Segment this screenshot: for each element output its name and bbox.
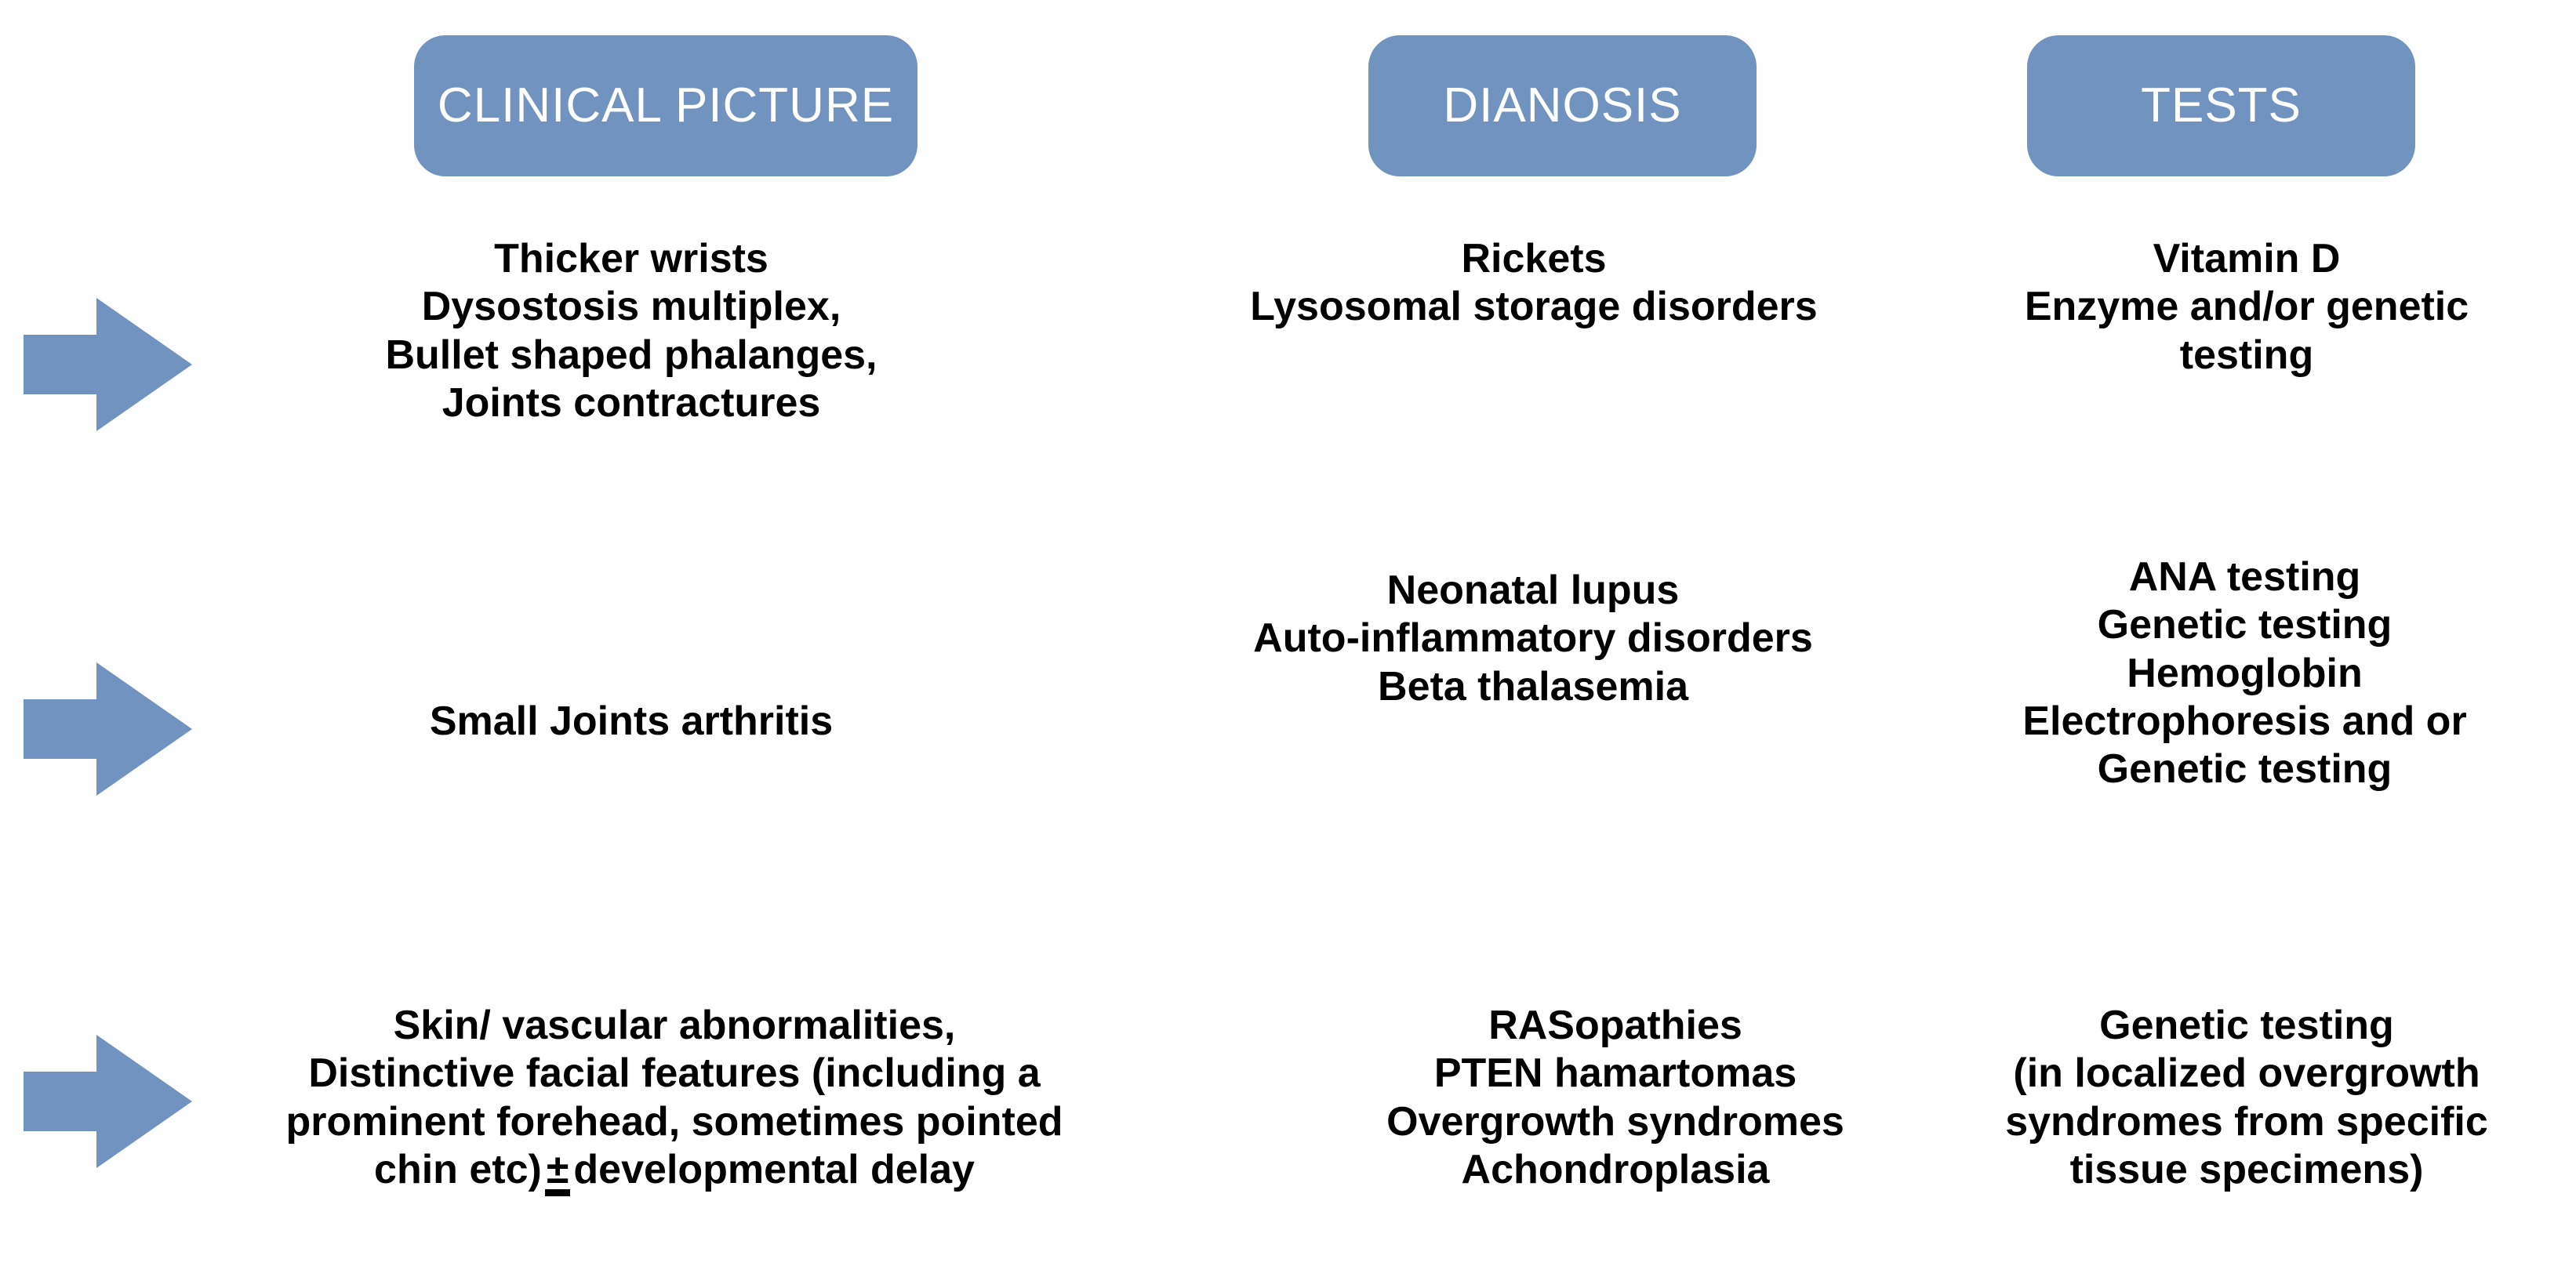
- cell-line: Skin/ vascular abnormalities,: [141, 1002, 1208, 1050]
- header-pill-clinical-picture[interactable]: CLINICAL PICTURE: [414, 35, 917, 176]
- cell-line-prefix: chin etc): [374, 1147, 542, 1192]
- cell-row1-dianosis: Rickets Lysosomal storage disorders: [1176, 235, 1891, 332]
- cell-line: Bullet shaped phalanges,: [149, 332, 1114, 379]
- header-pill-tests[interactable]: TESTS: [2027, 35, 2415, 176]
- cell-row2-clinical-picture: Small Joints arthritis: [149, 698, 1114, 746]
- cell-line: Hemoglobin: [1925, 650, 2564, 698]
- header-pill-dianosis[interactable]: DIANOSIS: [1368, 35, 1757, 176]
- header-label-tests: TESTS: [2141, 82, 2302, 130]
- cell-line: Enzyme and/or genetic: [1937, 283, 2556, 331]
- cell-line: Distinctive facial features (including a: [141, 1050, 1208, 1098]
- diagram-canvas: CLINICAL PICTURE DIANOSIS TESTS Thicker …: [0, 0, 2576, 1288]
- cell-line: Neonatal lupus: [1161, 567, 1906, 615]
- cell-row1-clinical-picture: Thicker wrists Dysostosis multiplex, Bul…: [149, 235, 1114, 427]
- header-label-dianosis: DIANOSIS: [1443, 82, 1681, 130]
- cell-line: Joints contractures: [149, 379, 1114, 427]
- cell-line: PTEN hamartomas: [1223, 1050, 2007, 1098]
- plus-minus-symbol: ±: [545, 1152, 571, 1196]
- cell-line: Auto-inflammatory disorders: [1161, 615, 1906, 662]
- cell-row3-dianosis: RASopathies PTEN hamartomas Overgrowth s…: [1223, 1002, 2007, 1194]
- cell-line: prominent forehead, sometimes pointed: [141, 1098, 1208, 1146]
- cell-row3-clinical-picture: Skin/ vascular abnormalities, Distinctiv…: [141, 1002, 1208, 1196]
- cell-line: Dysostosis multiplex,: [149, 283, 1114, 331]
- cell-line: Lysosomal storage disorders: [1176, 283, 1891, 331]
- cell-row2-tests: ANA testing Genetic testing Hemoglobin E…: [1925, 553, 2564, 794]
- cell-line: Genetic testing: [1925, 746, 2564, 793]
- cell-line: Vitamin D: [1937, 235, 2556, 283]
- cell-line: Beta thalasemia: [1161, 663, 1906, 711]
- cell-line: Genetic testing: [1925, 601, 2564, 649]
- cell-row1-tests: Vitamin D Enzyme and/or genetic testing: [1937, 235, 2556, 379]
- cell-line: Electrophoresis and or: [1925, 698, 2564, 746]
- cell-line: testing: [1937, 332, 2556, 379]
- header-label-clinical-picture: CLINICAL PICTURE: [438, 82, 894, 130]
- cell-line: ANA testing: [1925, 553, 2564, 601]
- cell-line: Genetic testing: [1925, 1002, 2568, 1050]
- cell-line-suffix: developmental delay: [573, 1147, 975, 1192]
- cell-line: Achondroplasia: [1223, 1146, 2007, 1194]
- cell-line: RASopathies: [1223, 1002, 2007, 1050]
- cell-line: (in localized overgrowth: [1925, 1050, 2568, 1098]
- cell-line-plusminus: chin etc)±developmental delay: [141, 1146, 1208, 1196]
- cell-line: Rickets: [1176, 235, 1891, 283]
- cell-line: Overgrowth syndromes: [1223, 1098, 2007, 1146]
- cell-line: syndromes from specific: [1925, 1098, 2568, 1146]
- cell-line: Thicker wrists: [149, 235, 1114, 283]
- cell-line: tissue specimens): [1925, 1146, 2568, 1194]
- cell-line: Small Joints arthritis: [149, 698, 1114, 746]
- cell-row2-dianosis: Neonatal lupus Auto-inflammatory disorde…: [1161, 567, 1906, 711]
- cell-row3-tests: Genetic testing (in localized overgrowth…: [1925, 1002, 2568, 1194]
